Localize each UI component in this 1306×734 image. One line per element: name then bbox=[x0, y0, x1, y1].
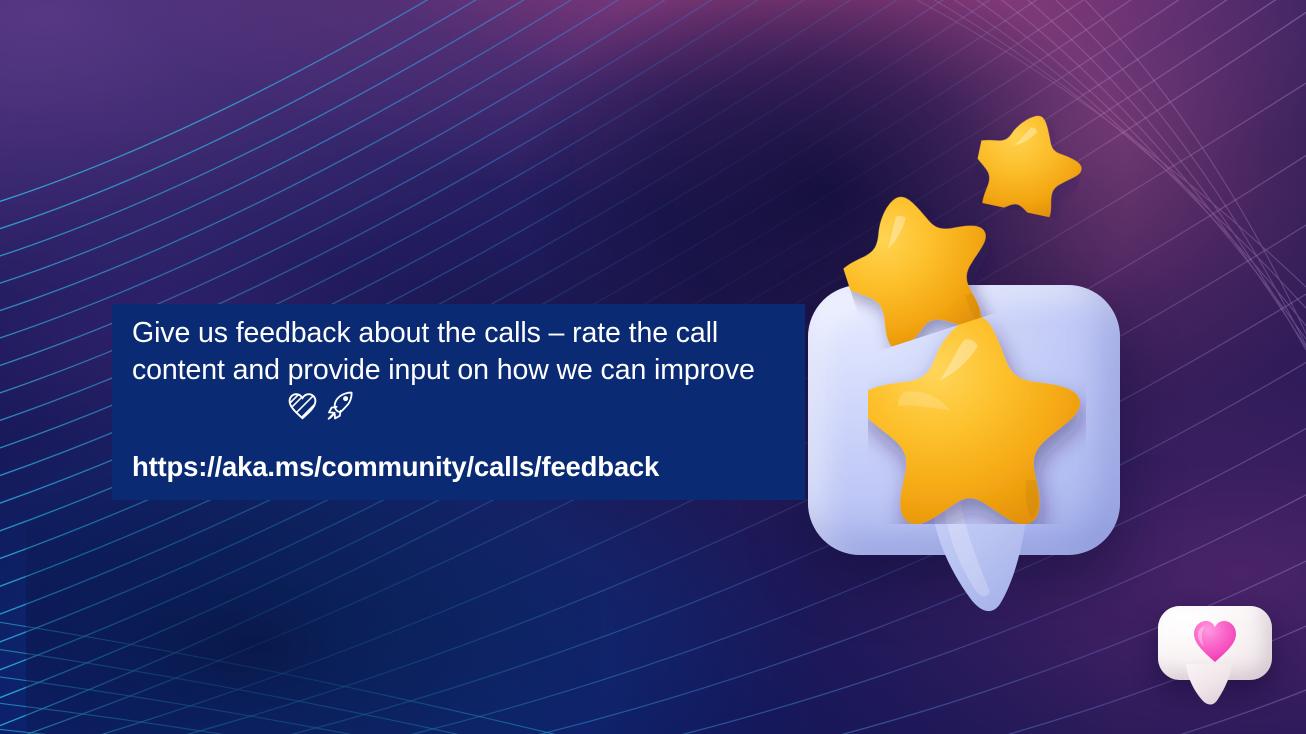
feedback-url[interactable]: https://aka.ms/community/calls/feedback bbox=[132, 452, 659, 482]
rocket-emoji bbox=[326, 391, 356, 421]
emoji-row bbox=[288, 391, 356, 421]
striped-heart-emoji bbox=[288, 393, 317, 420]
slide-canvas: Give us feedback about the calls – rate … bbox=[0, 0, 1306, 734]
feedback-text-panel-inner: Give us feedback about the calls – rate … bbox=[132, 315, 791, 389]
feedback-headline: Give us feedback about the calls – rate … bbox=[132, 315, 791, 389]
